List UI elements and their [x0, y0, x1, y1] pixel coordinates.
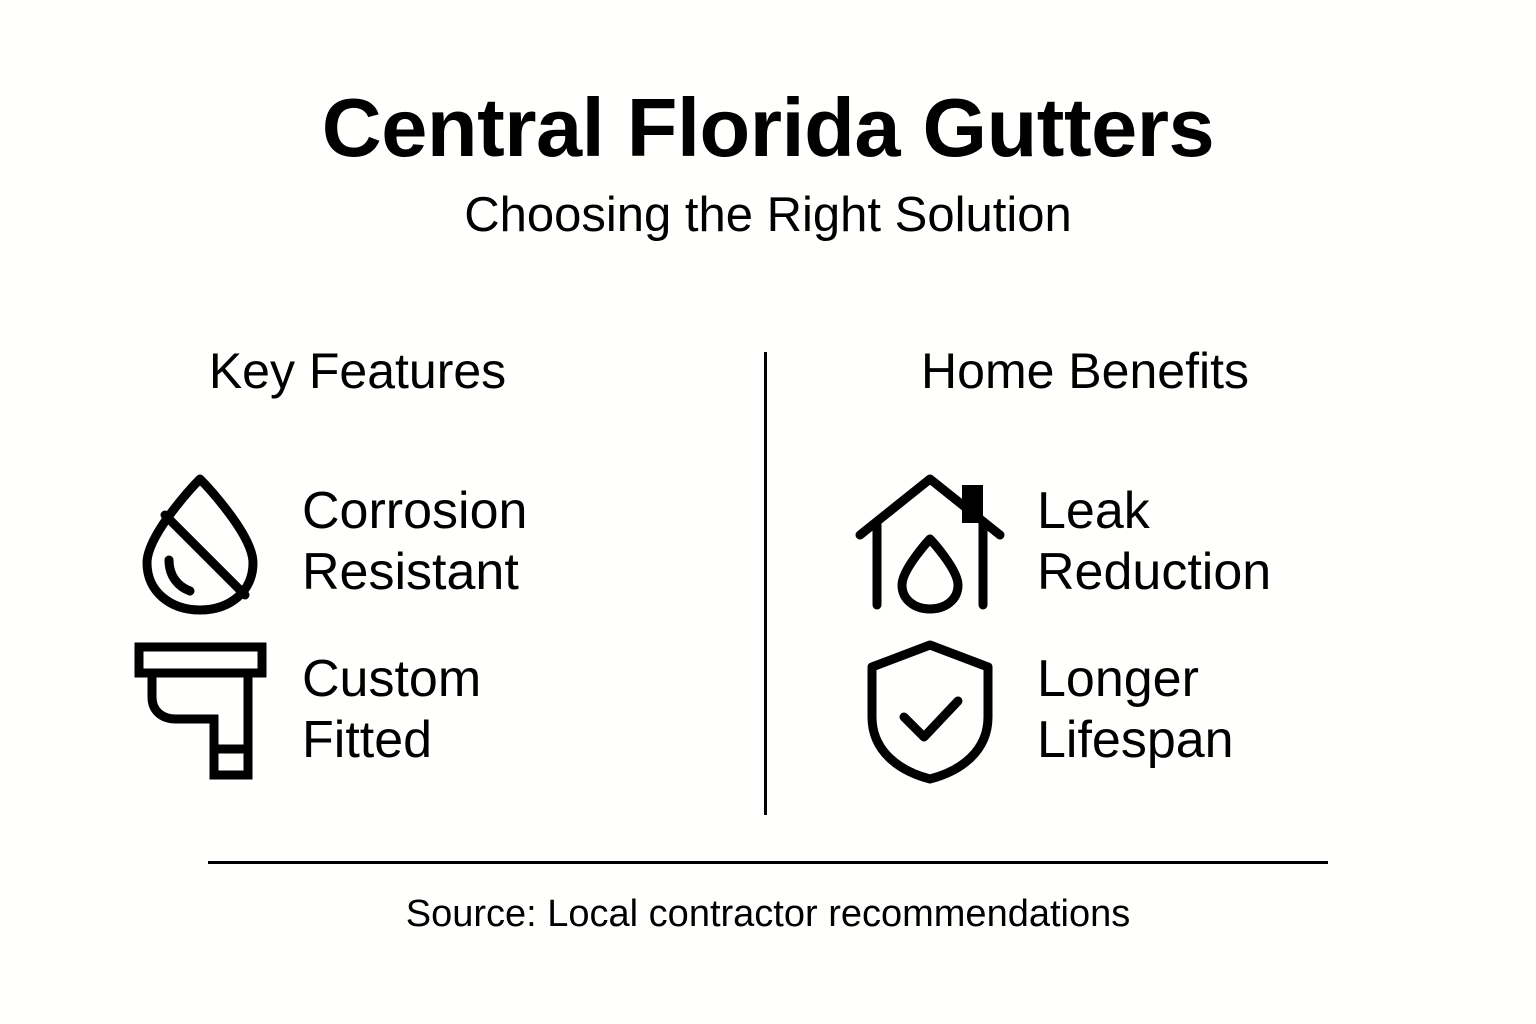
source-note: Source: Local contractor recommendations — [0, 893, 1536, 936]
list-item-label-line1: Custom — [302, 650, 481, 708]
list-item-label-line2: Reduction — [1037, 542, 1385, 603]
list-item-label-line2: Resistant — [302, 542, 765, 603]
list-item: Leak Reduction — [845, 458, 1385, 626]
page-title: Central Florida Gutters — [0, 86, 1536, 169]
list-item-label: Leak Reduction — [1037, 481, 1385, 604]
columns-container: Key Features Corrosion Resistant — [0, 346, 1536, 826]
column-home-benefits: Home Benefits Leak Reduc — [845, 346, 1385, 826]
list-item-label: Custom Fitted — [302, 649, 765, 772]
list-item-label-line2: Fitted — [302, 710, 765, 771]
column-heading-key-features: Key Features — [120, 346, 765, 396]
list-item-label-line1: Longer — [1037, 650, 1199, 708]
list-item-label: Longer Lifespan — [1037, 649, 1385, 772]
home-benefits-list: Leak Reduction Longer Lifespan — [845, 458, 1385, 794]
house-water-droplet-icon — [845, 467, 1015, 617]
key-features-list: Corrosion Resistant Custom — [120, 458, 765, 794]
page-subtitle: Choosing the Right Solution — [0, 191, 1536, 240]
shield-check-icon — [845, 635, 1015, 785]
column-key-features: Key Features Corrosion Resistant — [120, 346, 765, 826]
gutter-downspout-icon — [120, 635, 280, 785]
list-item: Custom Fitted — [120, 626, 765, 794]
list-item: Corrosion Resistant — [120, 458, 765, 626]
list-item-label-line2: Lifespan — [1037, 710, 1385, 771]
list-item-label-line1: Corrosion — [302, 482, 527, 540]
footer-divider — [208, 861, 1328, 864]
list-item: Longer Lifespan — [845, 626, 1385, 794]
infographic-poster: Central Florida Gutters Choosing the Rig… — [0, 0, 1536, 1024]
column-heading-home-benefits: Home Benefits — [845, 346, 1385, 396]
list-item-label-line1: Leak — [1037, 482, 1150, 540]
water-droplet-slash-icon — [120, 467, 280, 617]
poster-header: Central Florida Gutters Choosing the Rig… — [0, 86, 1536, 240]
list-item-label: Corrosion Resistant — [302, 481, 765, 604]
